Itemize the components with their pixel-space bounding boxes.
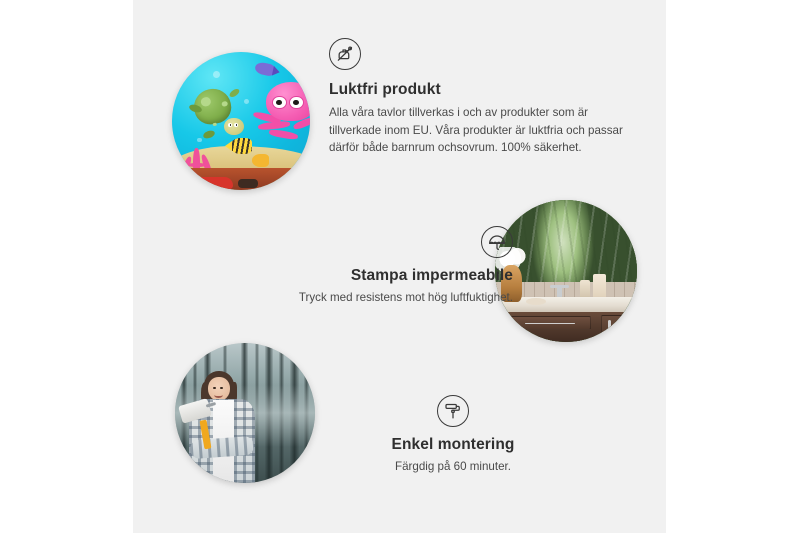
small-yellow-fish bbox=[252, 154, 269, 166]
octopus-tentacle bbox=[268, 128, 298, 140]
turtle-eye bbox=[234, 123, 238, 127]
infographic-canvas: Luktfri produkt Alla våra tavlor tillver… bbox=[133, 0, 666, 533]
octopus-eye bbox=[289, 96, 304, 110]
woman-figure bbox=[183, 371, 270, 483]
octopus-eye bbox=[272, 96, 287, 110]
octopus-head bbox=[266, 82, 310, 121]
image-underwater-kids-scene bbox=[172, 52, 310, 190]
turtle-eye bbox=[228, 123, 232, 127]
feature-description: Tryck med resistens mot hög luftfuktighe… bbox=[213, 289, 513, 306]
cabinet-door bbox=[601, 315, 637, 340]
umbrella-icon bbox=[481, 226, 513, 258]
feature-title: Stampa impermeabile bbox=[213, 266, 513, 285]
feature-description: Färgdig på 60 minuter. bbox=[318, 458, 588, 475]
smile bbox=[214, 392, 223, 397]
eye bbox=[213, 387, 216, 389]
turtle-flipper bbox=[228, 88, 241, 99]
feature-title: Enkel montering bbox=[318, 435, 588, 454]
cabinet-drawer bbox=[509, 316, 591, 330]
feature-odourless: Luktfri produkt Alla våra tavlor tillver… bbox=[329, 38, 629, 156]
feature-title: Luktfri produkt bbox=[329, 80, 629, 99]
wood-vanity-cabinet bbox=[504, 312, 637, 342]
image-woman-paint-roller-forest bbox=[175, 343, 315, 483]
feature-waterproof: Stampa impermeabile Tryck med resistens … bbox=[213, 226, 513, 307]
eye bbox=[220, 387, 223, 389]
sea-turtle bbox=[191, 89, 241, 133]
striped-yellow-fish bbox=[230, 138, 252, 155]
turtle-head bbox=[224, 118, 244, 136]
feature-mounting: Enkel montering Färgdig på 60 minuter. bbox=[318, 395, 588, 476]
paint-roller-icon bbox=[437, 395, 469, 427]
coral-branch bbox=[188, 163, 206, 167]
image-bathroom-tropical-wallpaper bbox=[495, 200, 637, 342]
product-benefits-infographic: Luktfri produkt Alla våra tavlor tillver… bbox=[0, 0, 800, 533]
pink-octopus bbox=[252, 82, 310, 143]
shipwreck-foreground bbox=[172, 168, 310, 190]
no-fragrance-icon bbox=[329, 38, 361, 70]
feature-description: Alla våra tavlor tillverkas i och av pro… bbox=[329, 104, 629, 155]
